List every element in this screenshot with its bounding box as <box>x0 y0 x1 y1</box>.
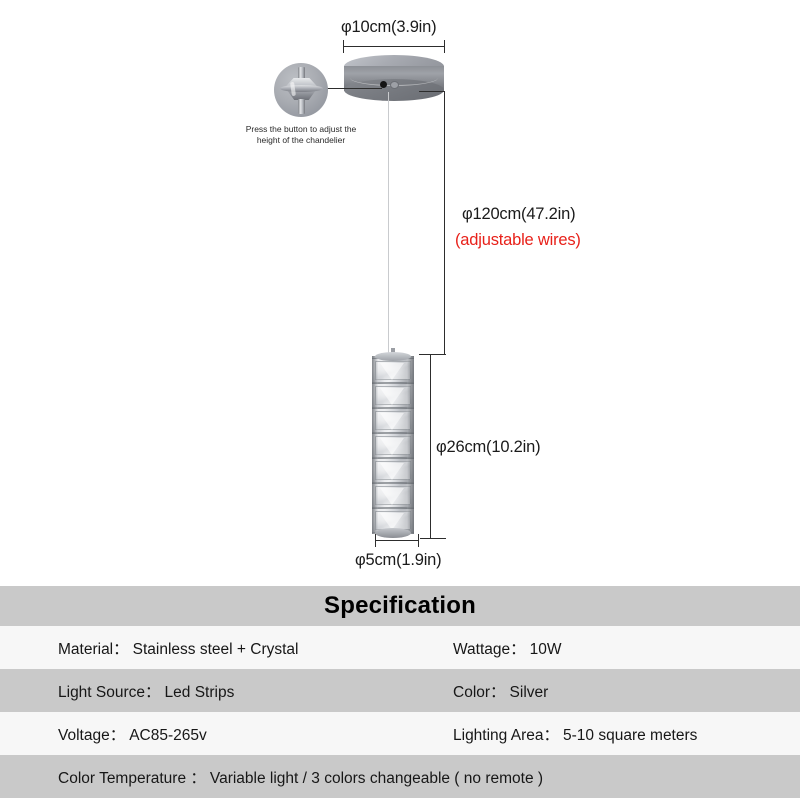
spec-value: Silver <box>510 684 549 701</box>
spec-value: 5-10 square meters <box>563 727 697 744</box>
spec-cell-color: Color：Silver <box>453 680 800 702</box>
spec-key: Wattage： <box>453 641 526 658</box>
crystal-column-icon <box>372 352 414 538</box>
wire-dimension-tick-top <box>419 91 445 92</box>
spec-value: Led Strips <box>165 684 235 701</box>
spec-value: Variable light / 3 colors changeable ( n… <box>210 770 543 787</box>
table-row: Color Temperature ：Variable light / 3 co… <box>0 755 800 798</box>
canopy-wire-hub <box>390 81 399 89</box>
crystal-right-edge <box>407 356 414 534</box>
spec-key: Light Source： <box>58 684 161 701</box>
body-diameter-tick-right <box>418 534 419 547</box>
spec-key: Color Temperature ： <box>58 770 206 787</box>
button-flange <box>280 85 323 92</box>
body-diameter-label: φ5cm(1.9in) <box>355 551 441 570</box>
spec-key: Color： <box>453 684 506 701</box>
specification-table: Specification Material：Stainless steel +… <box>0 586 800 800</box>
body-diameter-tick-left <box>375 534 376 547</box>
body-diameter-dimension-line <box>375 540 419 541</box>
specification-title: Specification <box>324 592 476 620</box>
spec-key: Lighting Area： <box>453 727 559 744</box>
crystal-top-cap <box>375 352 411 361</box>
table-row: Light Source：Led Strips Color：Silver <box>0 669 800 712</box>
spec-cell-voltage: Voltage：AC85-265v <box>58 723 453 745</box>
spec-key: Material： <box>58 641 129 658</box>
canopy-dimension-line <box>343 46 445 47</box>
body-height-tick-top <box>420 354 446 355</box>
crystal-bottom-cap <box>375 528 411 538</box>
suspension-wire-icon <box>388 92 389 354</box>
canopy-dimension-label: φ10cm(3.9in) <box>341 18 436 37</box>
canopy-dimension-tick-left <box>343 40 344 53</box>
table-row: Material：Stainless steel + Crystal Watta… <box>0 626 800 669</box>
spec-value: AC85-265v <box>129 727 207 744</box>
spec-cell-wattage: Wattage：10W <box>453 637 800 659</box>
adjust-button-caption: Press the button to adjust the height of… <box>221 124 381 147</box>
spec-value: 10W <box>530 641 562 658</box>
canopy-adjust-button <box>380 81 387 88</box>
button-stem-bottom <box>298 99 305 114</box>
product-dimension-diagram: φ10cm(3.9in) Press the button to adjust … <box>0 0 800 580</box>
spec-cell-lighting-area: Lighting Area：5-10 square meters <box>453 723 800 745</box>
body-height-tick-bottom <box>420 538 446 539</box>
specification-header: Specification <box>0 586 800 626</box>
spec-cell-material: Material：Stainless steel + Crystal <box>58 637 453 659</box>
wire-dimension-label: φ120cm(47.2in) <box>462 205 575 224</box>
wire-dimension-line <box>444 91 445 355</box>
crystal-left-edge <box>372 356 378 534</box>
canopy-dimension-tick-right <box>444 40 445 53</box>
wire-dimension-note: (adjustable wires) <box>455 231 581 250</box>
spec-cell-light-source: Light Source：Led Strips <box>58 680 453 702</box>
adjust-button-detail-icon <box>274 63 328 117</box>
spec-key: Voltage： <box>58 727 125 744</box>
body-height-dimension-line <box>430 354 431 539</box>
ceiling-canopy-icon <box>344 55 444 101</box>
body-height-label: φ26cm(10.2in) <box>436 438 540 457</box>
spec-cell-color-temperature: Color Temperature ：Variable light / 3 co… <box>58 766 543 788</box>
spec-value: Stainless steel + Crystal <box>133 641 299 658</box>
table-row: Voltage：AC85-265v Lighting Area：5-10 squ… <box>0 712 800 755</box>
